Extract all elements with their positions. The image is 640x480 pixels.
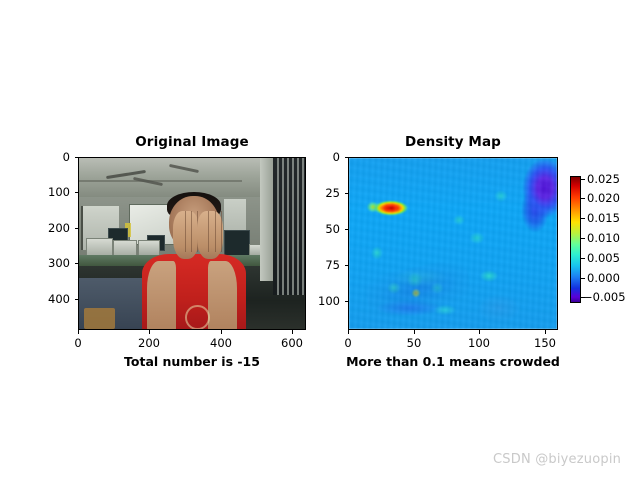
left-ytick-mark bbox=[75, 192, 79, 193]
right-ytick-mark bbox=[345, 157, 349, 158]
left-xtick-mark bbox=[292, 330, 293, 334]
right-xtick-mark bbox=[545, 330, 546, 334]
right-xtick-mark bbox=[414, 330, 415, 334]
colorbar-tick-label: 0.015 bbox=[587, 211, 620, 225]
right-xtick-mark bbox=[348, 330, 349, 334]
original-photograph bbox=[79, 158, 305, 329]
photo-person-right-hand bbox=[197, 211, 223, 259]
right-xtick-label: 150 bbox=[534, 336, 556, 350]
density-map-axes bbox=[348, 157, 558, 330]
left-xtick-label: 0 bbox=[74, 336, 81, 350]
right-ytick-mark bbox=[345, 301, 349, 302]
left-ytick-label: 100 bbox=[38, 185, 70, 199]
colorbar-tick-label: −0.005 bbox=[583, 290, 626, 304]
colorbar-tick-mark bbox=[581, 278, 585, 279]
right-ytick-label: 25 bbox=[308, 186, 340, 200]
colorbar-tick-label: 0.010 bbox=[587, 231, 620, 245]
colorbar-tick-mark bbox=[581, 258, 585, 259]
left-xtick-mark bbox=[149, 330, 150, 334]
photo-window-bar bbox=[287, 158, 289, 295]
colorbar-tick-mark bbox=[581, 238, 585, 239]
colorbar-tick-label: 0.000 bbox=[587, 271, 620, 285]
colorbar-tick-label: 0.025 bbox=[587, 172, 620, 186]
photo-stool bbox=[84, 308, 116, 329]
csdn-watermark: CSDN @biyezuopin bbox=[493, 452, 621, 467]
right-ytick-label: 100 bbox=[308, 294, 340, 308]
matplotlib-figure: Original Image bbox=[0, 0, 640, 480]
density-map-title: Density Map bbox=[348, 134, 558, 150]
photo-barred-window bbox=[273, 158, 305, 295]
original-image-axes bbox=[78, 157, 306, 330]
photo-pillar bbox=[260, 158, 274, 281]
right-ytick-mark bbox=[345, 193, 349, 194]
photo-window-bar bbox=[282, 158, 284, 295]
right-ytick-label: 0 bbox=[308, 150, 340, 164]
right-ytick-label: 50 bbox=[308, 222, 340, 236]
right-ytick-label: 75 bbox=[308, 258, 340, 272]
density-colorbar bbox=[570, 176, 581, 303]
photo-shirt-logo bbox=[185, 305, 209, 330]
left-ytick-mark bbox=[75, 228, 79, 229]
right-xtick-label: 0 bbox=[344, 336, 351, 350]
left-xtick-mark bbox=[78, 330, 79, 334]
left-ytick-mark bbox=[75, 299, 79, 300]
left-xtick-mark bbox=[221, 330, 222, 334]
colorbar-tick-label: 0.020 bbox=[587, 191, 620, 205]
colorbar-tick-mark bbox=[581, 218, 585, 219]
left-xtick-label: 400 bbox=[210, 336, 232, 350]
colorbar-tick-mark bbox=[581, 179, 585, 180]
photo-window-bar bbox=[292, 158, 294, 295]
photo-person-left-arm bbox=[147, 261, 176, 329]
colorbar-tick-mark bbox=[581, 198, 585, 199]
left-ytick-label: 0 bbox=[38, 150, 70, 164]
right-xtick-label: 100 bbox=[468, 336, 490, 350]
photo-person-right-arm bbox=[208, 261, 237, 329]
photo-finger bbox=[215, 211, 222, 252]
photo-window-bar bbox=[302, 158, 304, 295]
left-xtick-label: 600 bbox=[281, 336, 303, 350]
photo-person-left-hand bbox=[173, 211, 199, 259]
left-ytick-label: 400 bbox=[38, 292, 70, 306]
right-ytick-mark bbox=[345, 265, 349, 266]
left-ytick-mark bbox=[75, 263, 79, 264]
density-map-xlabel: More than 0.1 means crowded bbox=[334, 354, 572, 369]
right-ytick-mark bbox=[345, 229, 349, 230]
density-texture-overlay bbox=[349, 158, 557, 329]
left-ytick-label: 300 bbox=[38, 256, 70, 270]
left-xtick-label: 200 bbox=[138, 336, 160, 350]
original-image-title: Original Image bbox=[78, 134, 306, 150]
photo-window-bar bbox=[277, 158, 279, 295]
right-xtick-mark bbox=[479, 330, 480, 334]
colorbar-tick-label: 0.005 bbox=[587, 251, 620, 265]
right-xtick-label: 50 bbox=[407, 336, 422, 350]
left-ytick-mark bbox=[75, 157, 79, 158]
photo-window-bar bbox=[297, 158, 299, 295]
original-image-xlabel: Total number is -15 bbox=[78, 354, 306, 369]
left-ytick-label: 200 bbox=[38, 221, 70, 235]
